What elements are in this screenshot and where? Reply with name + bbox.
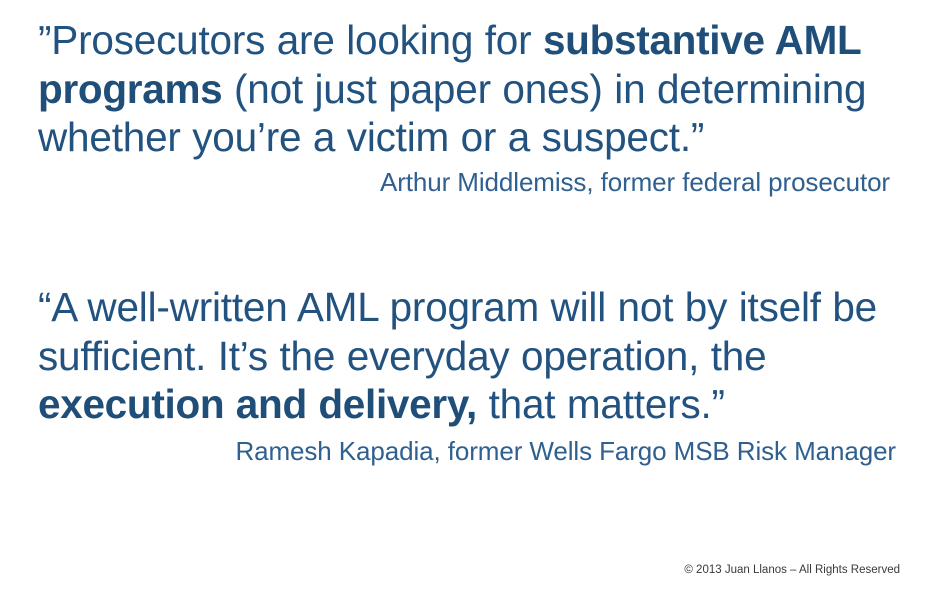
- quote-attribution: Arthur Middlemiss, former federal prosec…: [38, 166, 900, 198]
- footer-copyright-notice: © 2013 Juan Llanos – All Rights Reserved: [684, 563, 900, 578]
- quote-block-aml-program: “A well-written AML program will not by …: [38, 283, 900, 467]
- quote-tail-text: that matters.”: [477, 381, 725, 427]
- quote-text: ”Prosecutors are looking for substantive…: [38, 16, 900, 162]
- quote-lead-text: ”Prosecutors are looking for: [38, 17, 543, 63]
- quote-emphasis-text: execution and delivery,: [38, 381, 477, 427]
- quote-attribution: Ramesh Kapadia, former Wells Fargo MSB R…: [38, 435, 900, 467]
- quote-text: “A well-written AML program will not by …: [38, 283, 900, 429]
- slide-canvas: ”Prosecutors are looking for substantive…: [0, 0, 934, 592]
- quote-lead-text: “A well-written AML program will not by …: [38, 284, 877, 379]
- quote-block-prosecutors: ”Prosecutors are looking for substantive…: [38, 16, 900, 198]
